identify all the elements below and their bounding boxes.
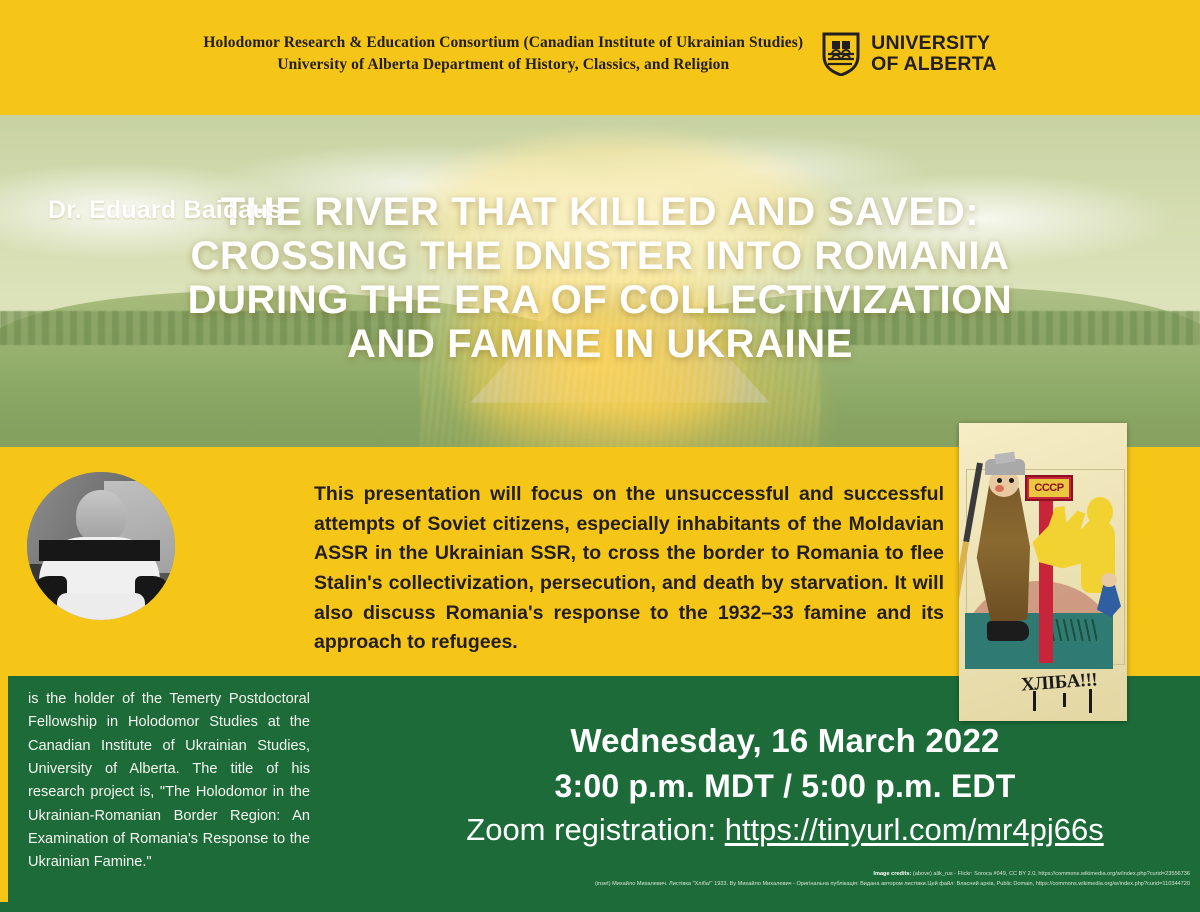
ualberta-wordmark: UNIVERSITY OF ALBERTA — [871, 33, 996, 74]
host-organization-text: Holodomor Research & Education Consortiu… — [203, 32, 803, 76]
logo-word-university: UNIVERSITY — [871, 33, 996, 53]
speaker-portrait-art — [27, 472, 175, 620]
postcard-ink-drip-2 — [1063, 693, 1066, 707]
title-line-4: AND FAMINE IN UKRAINE — [60, 322, 1140, 366]
zoom-registration-label: Zoom registration: — [466, 812, 724, 847]
postcard-sign-text: СССР — [1029, 478, 1069, 498]
abstract-text: This presentation will focus on the unsu… — [314, 480, 944, 658]
postcard-grass — [1053, 619, 1097, 641]
event-details: Wednesday, 16 March 2022 3:00 p.m. MDT /… — [390, 722, 1180, 848]
university-of-alberta-logo: UNIVERSITY OF ALBERTA — [821, 32, 996, 76]
host-line-2: University of Alberta Department of Hist… — [203, 54, 803, 76]
credits-line-1: Image credits: (above) alik_rus - Flickr… — [0, 870, 1190, 880]
header-inner: Holodomor Research & Education Consortiu… — [203, 32, 996, 76]
event-time: 3:00 p.m. MDT / 5:00 p.m. EDT — [390, 768, 1180, 805]
postcard-small-victim-head — [1101, 573, 1117, 587]
zoom-registration-link[interactable]: https://tinyurl.com/mr4pj66s — [725, 812, 1104, 847]
event-date: Wednesday, 16 March 2022 — [390, 722, 1180, 760]
poster-header: Holodomor Research & Education Consortiu… — [0, 0, 1200, 115]
postcard-soldier-boots — [987, 621, 1029, 641]
zoom-registration-line: Zoom registration: https://tinyurl.com/m… — [390, 812, 1180, 848]
portrait-shirt-stripe — [39, 540, 160, 561]
credits-line-2: (inset) Михайло Михалевич. Листівка "Хлі… — [0, 880, 1190, 890]
title-line-3: DURING THE ERA OF COLLECTIVIZATION — [60, 278, 1140, 322]
host-line-1: Holodomor Research & Education Consortiu… — [203, 32, 803, 54]
title-line-2: CROSSING THE DNISTER INTO ROMANIA — [60, 234, 1140, 278]
postcard-soldier-cheek — [995, 485, 1004, 492]
postcard-soldier-eye-left — [997, 478, 1002, 483]
postcard-inset-image: СССР ХЛІБА!!! — [959, 423, 1127, 721]
event-poster: Holodomor Research & Education Consortiu… — [0, 0, 1200, 912]
credits-line-1-text: (above) alik_rus - Flickr: Soroca #049, … — [911, 871, 1190, 877]
logo-word-of-alberta: OF ALBERTA — [871, 54, 996, 74]
bottom-green-rule — [0, 902, 1200, 912]
postcard-ink-drip-3 — [1089, 689, 1092, 713]
portrait-folded-arms — [57, 593, 146, 620]
speaker-name: Dr. Eduard Baidaus — [20, 196, 310, 225]
image-credits: Image credits: (above) alik_rus - Flickr… — [0, 870, 1200, 890]
credits-label: Image credits: — [873, 871, 911, 877]
portrait-head — [76, 490, 126, 543]
ualberta-shield-icon — [821, 32, 861, 76]
speaker-portrait — [27, 472, 175, 620]
speaker-bio: is the holder of the Temerty Postdoctora… — [28, 688, 310, 875]
postcard-soldier-eye-right — [1009, 478, 1014, 483]
postcard-ink-drip-1 — [1033, 691, 1036, 711]
